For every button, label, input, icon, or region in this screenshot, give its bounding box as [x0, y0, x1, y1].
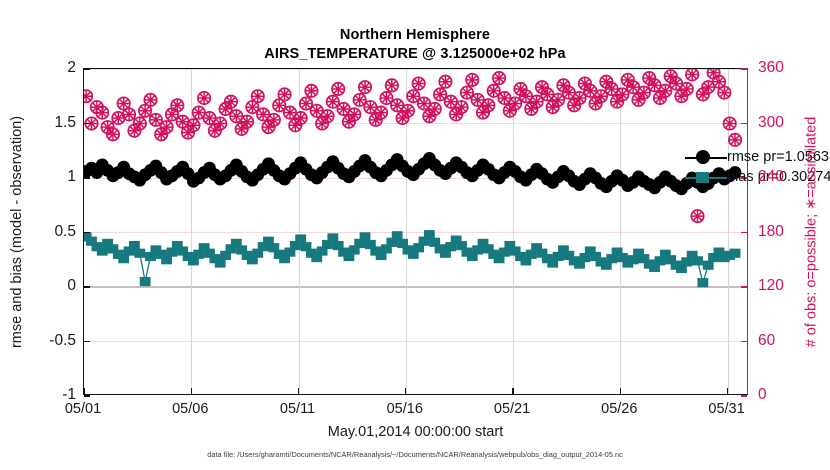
y-axis-right-tick-label: 120	[758, 277, 784, 295]
y-axis-right-tick-label: 360	[758, 59, 784, 77]
y-axis-right-tick-label: 0	[758, 386, 767, 404]
y-axis-right-tick	[741, 232, 747, 234]
y-axis-left-tick-label: 2	[30, 59, 76, 77]
y-axis-left-tick-label: 1.5	[30, 114, 76, 132]
y-axis-right-title-text: # of obs: o=possible; ∗=assimilated	[803, 116, 819, 347]
axis-ticks-layer	[84, 69, 747, 394]
x-axis-tick	[191, 388, 192, 394]
chart-title-line2: AIRS_TEMPERATURE @ 3.125000e+02 hPa	[0, 45, 830, 64]
x-axis-tick	[83, 388, 84, 394]
x-axis-tick	[727, 388, 728, 394]
x-axis-tick-label: 05/06	[172, 401, 208, 417]
y-axis-left-tick	[84, 286, 90, 287]
data-file-note: data file: /Users/gharamti/Documents/NCA…	[0, 450, 830, 459]
x-axis-tick-label: 05/01	[65, 401, 101, 417]
y-axis-right-tick-label: 240	[758, 168, 784, 186]
y-axis-left-tick-label: 0	[30, 277, 76, 295]
y-axis-left-tick	[84, 123, 90, 124]
x-axis-tick-label: 05/31	[708, 401, 744, 417]
y-axis-left-tick-label: 1	[30, 168, 76, 186]
legend-rmse-marker	[685, 147, 727, 167]
y-axis-left-tick	[84, 395, 90, 396]
y-axis-right-tick	[741, 395, 747, 397]
chart-title-block: Northern Hemisphere AIRS_TEMPERATURE @ 3…	[0, 26, 830, 64]
y-axis-right-tick	[741, 123, 747, 125]
x-axis-tick	[620, 388, 621, 394]
plot-area: rmse pr=1.0563 bias pr=0.30274	[83, 68, 748, 395]
y-axis-right-title: # of obs: o=possible; ∗=assimilated	[800, 68, 822, 395]
y-axis-left-tick	[84, 341, 90, 342]
y-axis-right-tick-label: 60	[758, 332, 775, 350]
x-axis-tick-label: 05/16	[387, 401, 423, 417]
legend-bias-marker	[685, 167, 727, 187]
x-axis-tick	[405, 388, 406, 394]
x-axis-tick-label: 05/21	[494, 401, 530, 417]
chart-title-line1: Northern Hemisphere	[0, 26, 830, 45]
x-axis-tick-label: 05/26	[601, 401, 637, 417]
y-axis-right-tick	[741, 341, 747, 343]
x-axis-tick	[298, 388, 299, 394]
x-axis-tick-label: 05/11	[280, 401, 315, 417]
y-axis-right-tick	[741, 286, 747, 288]
y-axis-left-tick-label: -0.5	[30, 332, 76, 350]
y-axis-left-title: rmse and bias (model - observation)	[6, 68, 28, 395]
y-axis-right-tick-label: 180	[758, 223, 784, 241]
y-axis-right-tick-label: 300	[758, 114, 784, 132]
x-axis-tick	[512, 388, 513, 394]
y-axis-left-tick	[84, 68, 90, 69]
y-axis-right-tick	[741, 68, 747, 70]
y-axis-left-tick-label: 0.5	[30, 223, 76, 241]
x-axis-title: May.01,2014 00:00:00 start	[83, 424, 748, 440]
y-axis-left-tick	[84, 232, 90, 233]
y-axis-left-title-text: rmse and bias (model - observation)	[9, 115, 25, 347]
y-axis-left-tick	[84, 177, 90, 178]
